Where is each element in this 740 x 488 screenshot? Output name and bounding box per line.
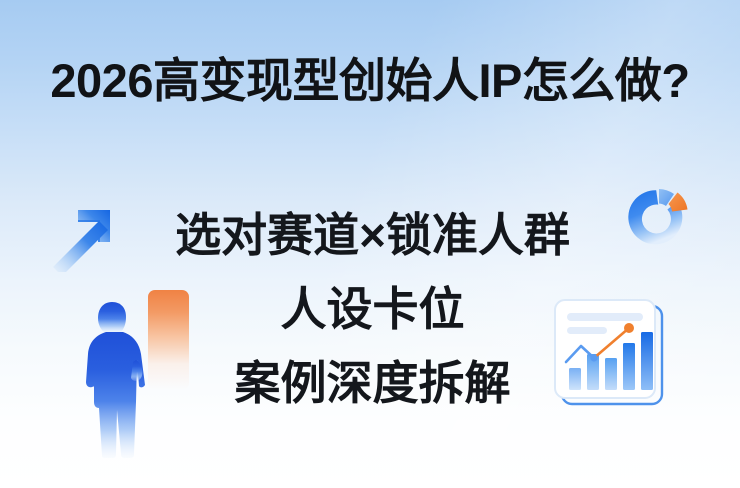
page-title: 2026高变现型创始人IP怎么做? — [0, 55, 740, 107]
bar-chart-card-icon — [548, 296, 670, 412]
poster-canvas: 2026高变现型创始人IP怎么做? — [0, 0, 740, 488]
headline-line-1: 选对赛道×锁准人群 — [90, 198, 655, 272]
donut-chart-icon — [622, 180, 698, 256]
